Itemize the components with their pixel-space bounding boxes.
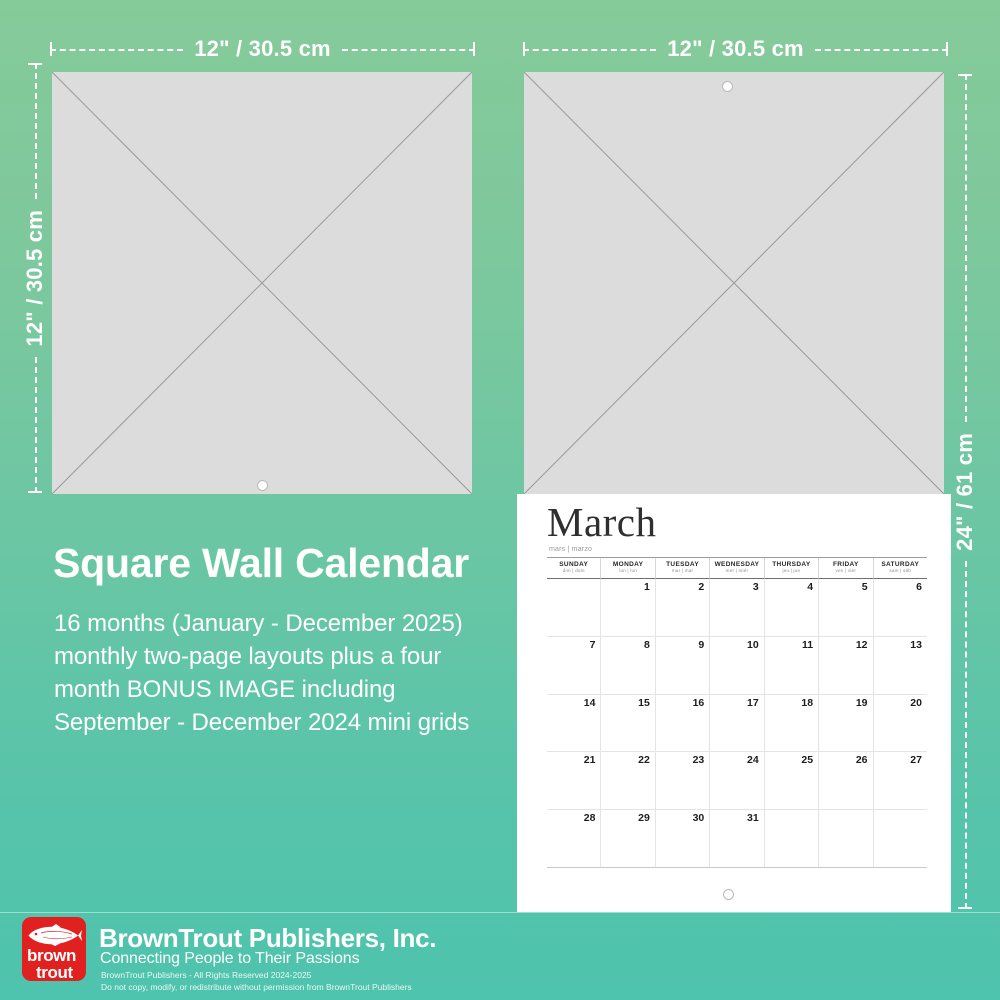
product-listing-image: 12" / 30.5 cm 12" / 30.5 cm 12" / 30.5 c… bbox=[0, 0, 1000, 1000]
trout-fish-icon bbox=[26, 924, 82, 946]
calendar-day-cell[interactable]: 18 bbox=[765, 695, 819, 752]
day-header-sub: mar | mar bbox=[656, 568, 709, 574]
calendar-day-number: 16 bbox=[693, 697, 705, 709]
day-header-name: WEDNESDAY bbox=[710, 561, 763, 568]
calendar-week-row: 1 2 3 4 5 6 bbox=[547, 579, 927, 637]
calendar-page: March mars | marzo SUNDAY dim | dom MOND… bbox=[517, 494, 951, 912]
day-header-sub: jeu | jue bbox=[765, 568, 818, 574]
description-line-1: 16 months (January - December 2025) bbox=[54, 607, 469, 640]
calendar-day-cell[interactable]: 27 bbox=[874, 752, 927, 809]
calendar-month-subtitle: mars | marzo bbox=[549, 546, 592, 553]
calendar-day-cell[interactable]: 4 bbox=[765, 579, 819, 636]
company-tagline: Connecting People to Their Passions bbox=[100, 950, 359, 968]
calendar-day-number: 11 bbox=[802, 639, 813, 651]
page-title: Square Wall Calendar bbox=[53, 542, 469, 585]
calendar-day-number: 17 bbox=[747, 697, 759, 709]
dimension-top-left: 12" / 30.5 cm bbox=[50, 36, 475, 62]
placeholder-cross-icon bbox=[52, 72, 472, 494]
calendar-day-number: 20 bbox=[910, 697, 922, 709]
dimension-cap-icon bbox=[946, 42, 948, 56]
calendar-day-cell[interactable]: 28 bbox=[547, 810, 601, 867]
day-header-name: SUNDAY bbox=[547, 561, 600, 568]
dimension-cap-icon bbox=[473, 42, 475, 56]
calendar-day-cell[interactable]: 31 bbox=[710, 810, 764, 867]
calendar-day-cell[interactable]: 17 bbox=[710, 695, 764, 752]
calendar-day-number: 28 bbox=[584, 812, 596, 824]
day-header-sub: lun | lun bbox=[601, 568, 654, 574]
dimension-rule-right bbox=[342, 42, 475, 56]
calendar-day-number: 7 bbox=[590, 639, 596, 651]
calendar-day-cell[interactable] bbox=[547, 579, 601, 636]
calendar-day-number: 4 bbox=[807, 581, 813, 593]
dimension-cap-icon bbox=[958, 907, 972, 909]
calendar-day-number: 1 bbox=[644, 581, 650, 593]
calendar-day-header-sunday: SUNDAY dim | dom bbox=[547, 558, 601, 579]
calendar-day-number: 3 bbox=[753, 581, 759, 593]
dimension-rule-left bbox=[523, 42, 656, 56]
calendar-day-cell[interactable]: 8 bbox=[601, 637, 655, 694]
calendar-day-header-thursday: THURSDAY jeu | jue bbox=[765, 558, 819, 579]
calendar-day-number: 15 bbox=[638, 697, 650, 709]
calendar-date-body: 1 2 3 4 5 6 7 8 9 10 11 12 13 14 bbox=[547, 579, 927, 868]
calendar-day-cell[interactable]: 1 bbox=[601, 579, 655, 636]
calendar-day-number: 23 bbox=[693, 754, 705, 766]
dimension-left-side-label: 12" / 30.5 cm bbox=[24, 199, 46, 358]
dimension-top-left-label: 12" / 30.5 cm bbox=[183, 38, 342, 60]
calendar-day-cell[interactable]: 22 bbox=[601, 752, 655, 809]
right-image-placeholder bbox=[524, 72, 944, 494]
dimension-top-right-label: 12" / 30.5 cm bbox=[656, 38, 815, 60]
calendar-day-cell[interactable]: 6 bbox=[874, 579, 927, 636]
day-header-name: SATURDAY bbox=[874, 561, 927, 568]
calendar-day-header-monday: MONDAY lun | lun bbox=[601, 558, 655, 579]
calendar-day-header-tuesday: TUESDAY mar | mar bbox=[656, 558, 710, 579]
calendar-day-cell[interactable] bbox=[765, 810, 819, 867]
calendar-day-cell[interactable]: 30 bbox=[656, 810, 710, 867]
calendar-day-number: 13 bbox=[910, 639, 922, 651]
dimension-left-side: 12" / 30.5 cm bbox=[22, 63, 48, 493]
product-description: 16 months (January - December 2025) mont… bbox=[54, 607, 469, 739]
hole-punch-icon bbox=[257, 480, 268, 491]
calendar-day-cell[interactable]: 25 bbox=[765, 752, 819, 809]
calendar-day-cell[interactable]: 2 bbox=[656, 579, 710, 636]
description-line-4: September - December 2024 mini grids bbox=[54, 706, 469, 739]
calendar-day-number: 8 bbox=[644, 639, 650, 651]
calendar-day-number: 27 bbox=[910, 754, 922, 766]
calendar-week-row: 21 22 23 24 25 26 27 bbox=[547, 752, 927, 810]
dimension-rule-bottom bbox=[28, 357, 42, 493]
calendar-day-cell[interactable]: 24 bbox=[710, 752, 764, 809]
calendar-day-number: 5 bbox=[862, 581, 868, 593]
copyright-line-2: Do not copy, modify, or redistribute wit… bbox=[101, 982, 412, 994]
logo-text-trout: trout bbox=[36, 964, 73, 981]
dimension-cap-icon bbox=[28, 491, 42, 493]
calendar-day-number: 26 bbox=[856, 754, 868, 766]
day-header-name: FRIDAY bbox=[819, 561, 872, 568]
calendar-day-cell[interactable]: 20 bbox=[874, 695, 927, 752]
calendar-day-number: 10 bbox=[747, 639, 759, 651]
calendar-day-number: 9 bbox=[698, 639, 704, 651]
day-header-name: THURSDAY bbox=[765, 561, 818, 568]
calendar-day-cell[interactable]: 23 bbox=[656, 752, 710, 809]
calendar-day-cell[interactable]: 9 bbox=[656, 637, 710, 694]
calendar-day-cell[interactable]: 12 bbox=[819, 637, 873, 694]
calendar-day-cell[interactable]: 21 bbox=[547, 752, 601, 809]
dimension-right-side: 24" / 61 cm bbox=[952, 74, 978, 909]
calendar-week-row: 7 8 9 10 11 12 13 bbox=[547, 637, 927, 695]
calendar-day-cell[interactable]: 3 bbox=[710, 579, 764, 636]
dimension-rule-bottom bbox=[958, 561, 972, 909]
calendar-day-number: 2 bbox=[698, 581, 704, 593]
calendar-day-number: 21 bbox=[584, 754, 596, 766]
left-image-placeholder bbox=[52, 72, 472, 494]
calendar-day-cell[interactable]: 26 bbox=[819, 752, 873, 809]
calendar-day-cell[interactable]: 16 bbox=[656, 695, 710, 752]
placeholder-cross-icon bbox=[524, 72, 944, 494]
calendar-day-cell[interactable]: 15 bbox=[601, 695, 655, 752]
calendar-day-number: 14 bbox=[584, 697, 596, 709]
day-header-sub: ven | vier bbox=[819, 568, 872, 574]
dimension-cap-icon bbox=[958, 74, 972, 76]
footer-divider bbox=[0, 912, 1000, 913]
calendar-day-cell[interactable]: 7 bbox=[547, 637, 601, 694]
calendar-day-header-friday: FRIDAY ven | vier bbox=[819, 558, 873, 579]
copyright-notice: BrownTrout Publishers - All Rights Reser… bbox=[101, 970, 412, 993]
calendar-week-row: 14 15 16 17 18 19 20 bbox=[547, 695, 927, 753]
day-header-name: MONDAY bbox=[601, 561, 654, 568]
dimension-rule-left bbox=[50, 42, 183, 56]
calendar-day-number: 22 bbox=[638, 754, 650, 766]
dimension-rule-top bbox=[958, 74, 972, 422]
calendar-day-number: 19 bbox=[856, 697, 868, 709]
calendar-day-number: 24 bbox=[747, 754, 759, 766]
dimension-rule-right bbox=[815, 42, 948, 56]
description-line-2: monthly two-page layouts plus a four bbox=[54, 640, 469, 673]
calendar-month-title: March bbox=[547, 502, 657, 543]
calendar-day-cell[interactable]: 19 bbox=[819, 695, 873, 752]
day-header-sub: dim | dom bbox=[547, 568, 600, 574]
hole-punch-icon bbox=[723, 889, 734, 900]
copyright-line-1: BrownTrout Publishers - All Rights Reser… bbox=[101, 970, 412, 982]
calendar-day-cell[interactable]: 11 bbox=[765, 637, 819, 694]
calendar-day-number: 12 bbox=[856, 639, 868, 651]
day-header-sub: sam | sáb bbox=[874, 568, 927, 574]
calendar-day-number: 31 bbox=[747, 812, 759, 824]
calendar-day-header-saturday: SATURDAY sam | sáb bbox=[874, 558, 927, 579]
logo-text-brown: brown bbox=[27, 947, 76, 964]
dimension-cap-icon bbox=[28, 63, 42, 65]
calendar-day-header-wednesday: WEDNESDAY mer | miér bbox=[710, 558, 764, 579]
calendar-day-header-row: SUNDAY dim | dom MONDAY lun | lun TUESDA… bbox=[547, 557, 927, 579]
dimension-rule-top bbox=[28, 63, 42, 199]
calendar-day-cell[interactable]: 10 bbox=[710, 637, 764, 694]
calendar-day-cell[interactable] bbox=[874, 810, 927, 867]
calendar-day-number: 30 bbox=[693, 812, 705, 824]
calendar-week-row: 28 29 30 31 bbox=[547, 810, 927, 868]
calendar-day-number: 25 bbox=[801, 754, 813, 766]
description-line-3: month BONUS IMAGE including bbox=[54, 673, 469, 706]
calendar-day-cell[interactable] bbox=[819, 810, 873, 867]
calendar-day-number: 6 bbox=[916, 581, 922, 593]
calendar-day-cell[interactable]: 14 bbox=[547, 695, 601, 752]
calendar-day-cell[interactable]: 5 bbox=[819, 579, 873, 636]
calendar-day-number: 18 bbox=[801, 697, 813, 709]
calendar-grid: SUNDAY dim | dom MONDAY lun | lun TUESDA… bbox=[547, 557, 927, 868]
dimension-top-right: 12" / 30.5 cm bbox=[523, 36, 948, 62]
hole-punch-icon bbox=[722, 81, 733, 92]
dimension-cap-icon bbox=[50, 42, 52, 56]
dimension-cap-icon bbox=[523, 42, 525, 56]
browntrout-logo: brown trout bbox=[22, 917, 86, 981]
calendar-day-cell[interactable]: 29 bbox=[601, 810, 655, 867]
dimension-right-side-label: 24" / 61 cm bbox=[954, 422, 976, 562]
day-header-name: TUESDAY bbox=[656, 561, 709, 568]
day-header-sub: mer | miér bbox=[710, 568, 763, 574]
calendar-day-cell[interactable]: 13 bbox=[874, 637, 927, 694]
calendar-day-number: 29 bbox=[638, 812, 650, 824]
